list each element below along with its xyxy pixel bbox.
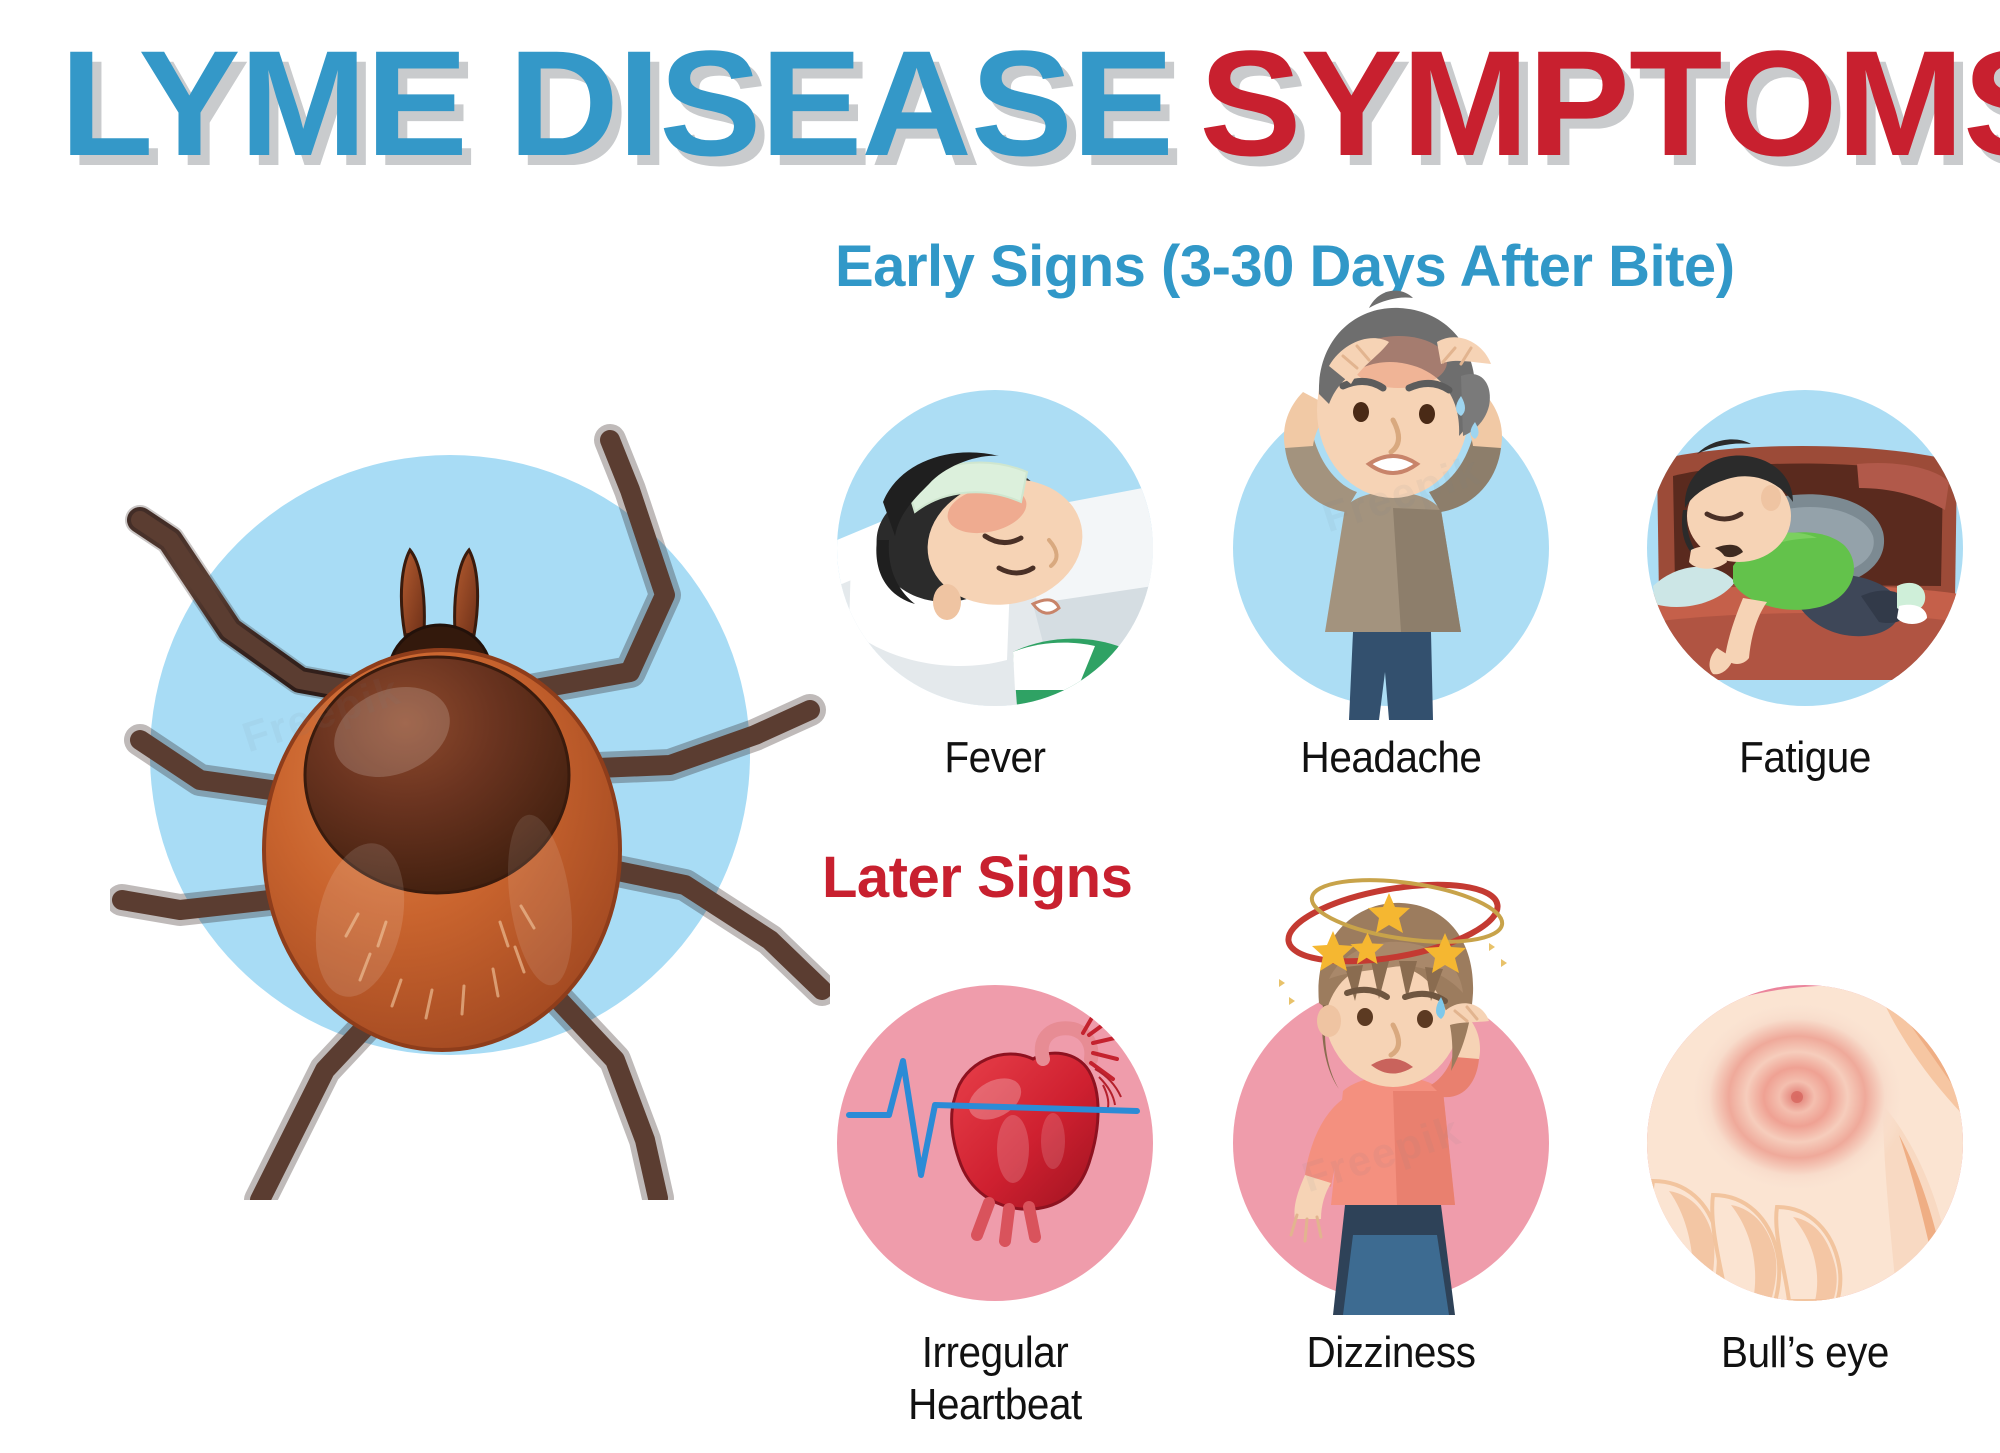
symptom-card-dizziness[interactable]: Dizziness (1226, 985, 1556, 1379)
later-signs-heading: Later Signs (822, 847, 1132, 909)
symptom-circle-irregular-heartbeat (837, 985, 1153, 1301)
symptom-circle-dizziness (1233, 985, 1549, 1301)
symptom-card-bulls-eye[interactable]: Bull’s eye (1640, 985, 1970, 1379)
symptom-card-headache[interactable]: Headache (1226, 390, 1556, 784)
circle-background-blue (837, 390, 1153, 706)
circle-background-pink (1233, 985, 1549, 1301)
symptom-label-bulls-eye: Bull’s eye (1653, 1327, 1957, 1379)
early-signs-heading: Early Signs (3-30 Days After Bite) (835, 236, 1735, 298)
symptom-card-fever[interactable]: Fever (830, 390, 1160, 784)
symptom-circle-fatigue (1647, 390, 1963, 706)
symptom-label-fever: Fever (843, 732, 1147, 784)
symptom-card-fatigue[interactable]: Fatigue (1640, 390, 1970, 784)
symptom-label-dizziness: Dizziness (1239, 1327, 1543, 1379)
tick-illustration (110, 380, 830, 1200)
infographic-poster: LYME DISEASESYMPTOMS (0, 0, 2000, 1453)
page-title-blue: LYME DISEASE (60, 28, 1173, 178)
circle-background-blue (1233, 390, 1549, 706)
symptom-circle-fever (837, 390, 1153, 706)
circle-background-pink-deep (1647, 985, 1963, 1301)
symptom-label-headache: Headache (1239, 732, 1543, 784)
symptom-card-irregular-heartbeat[interactable]: Irregular Heartbeat (830, 985, 1160, 1431)
circle-background-blue (1647, 390, 1963, 706)
symptom-label-irregular-heartbeat-line1: Irregular (843, 1327, 1147, 1379)
circle-background-pink (837, 985, 1153, 1301)
page-title-red: SYMPTOMS (1199, 28, 2000, 178)
symptom-label-irregular-heartbeat-line2: Heartbeat (843, 1379, 1147, 1431)
deer-tick-icon (110, 380, 830, 1200)
symptom-label-fatigue: Fatigue (1653, 732, 1957, 784)
page-title: LYME DISEASESYMPTOMS (60, 28, 2000, 178)
symptom-circle-headache (1233, 390, 1549, 706)
symptom-circle-bulls-eye (1647, 985, 1963, 1301)
